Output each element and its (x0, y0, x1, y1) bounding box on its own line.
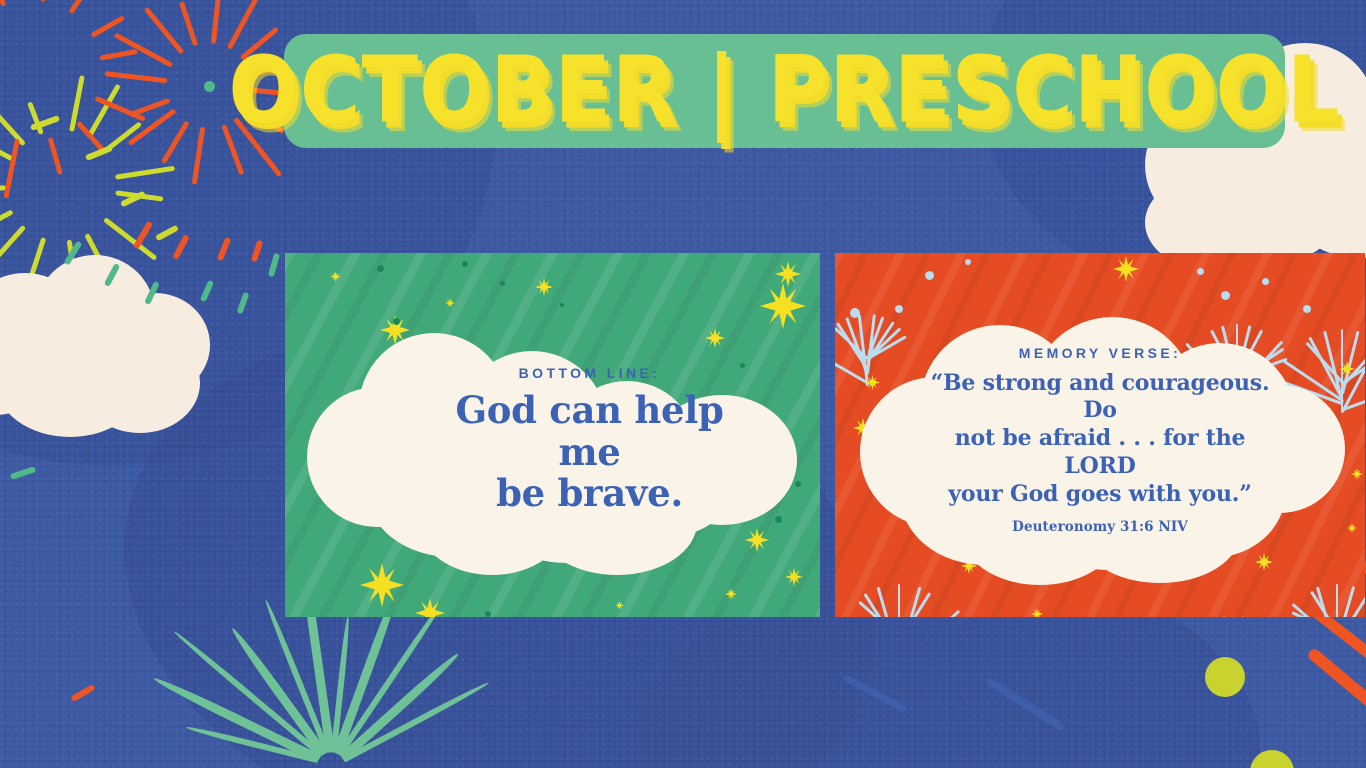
dot-decoration (895, 305, 903, 313)
memory-verse-text: “Be strong and courageous. Do not be afr… (922, 370, 1278, 509)
memory-verse-kicker: MEMORY VERSE: (1019, 345, 1181, 361)
lime-circle-decoration (1205, 657, 1245, 697)
speech-cloud-bubble: MEMORY VERSE: “Be strong and courageous.… (860, 315, 1340, 565)
bubble-text: BOTTOM LINE: God can help me be brave. (307, 325, 797, 555)
dot-decoration (965, 259, 971, 265)
memory-verse-card[interactable]: MEMORY VERSE: “Be strong and courageous.… (835, 253, 1365, 617)
dot-decoration (925, 271, 934, 280)
dot-decoration (560, 303, 564, 307)
dot-decoration (1197, 268, 1204, 275)
dot-decoration (1303, 305, 1311, 313)
dot-decoration (377, 265, 384, 272)
slide-canvas: OCTOBER | PRESCHOOL BOTTOM LINE: God can… (0, 0, 1366, 768)
bottom-line-kicker: BOTTOM LINE: (519, 365, 661, 381)
dot-decoration (1221, 291, 1230, 300)
bubble-text: MEMORY VERSE: “Be strong and courageous.… (860, 315, 1340, 565)
dot-decoration (393, 318, 400, 325)
bottom-line-headline: God can help me be brave. (442, 390, 737, 515)
title-banner: OCTOBER | PRESCHOOL (284, 34, 1285, 148)
memory-verse-reference: Deuteronomy 31:6 NIV (1012, 519, 1188, 535)
dot-decoration (500, 281, 505, 286)
page-title: OCTOBER | PRESCHOOL (228, 45, 1340, 137)
stroke-decoration (70, 684, 96, 702)
orange-streak-decoration (1306, 647, 1366, 765)
speech-cloud-bubble: BOTTOM LINE: God can help me be brave. (307, 325, 797, 555)
dot-decoration (485, 611, 491, 617)
dot-decoration (1262, 278, 1269, 285)
dot-decoration (850, 308, 860, 318)
bottom-line-card[interactable]: BOTTOM LINE: God can help me be brave. (285, 253, 820, 617)
stroke-decoration (10, 466, 37, 480)
dot-decoration (462, 261, 468, 267)
